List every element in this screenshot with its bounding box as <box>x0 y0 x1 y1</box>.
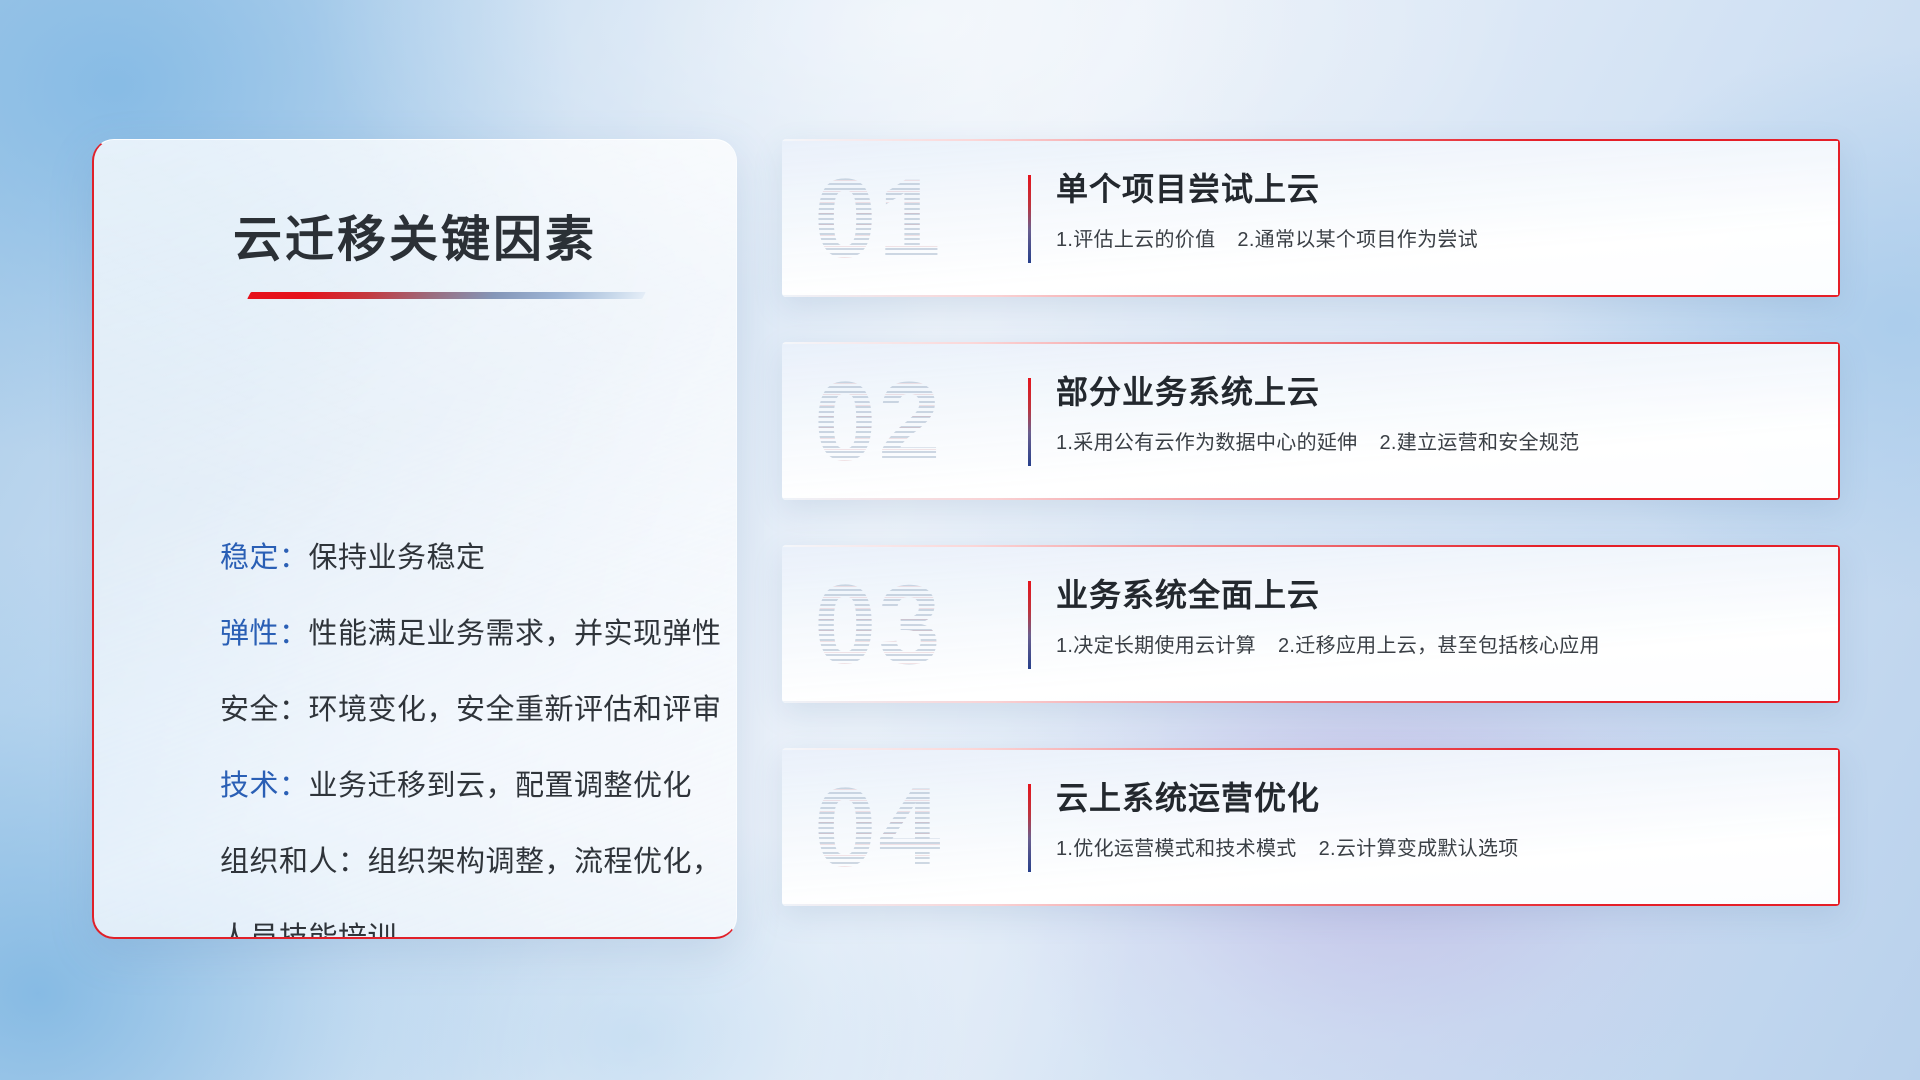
card-right-accent <box>1838 748 1840 906</box>
key-factor-row: 组织和人：组织架构调整，流程优化， <box>220 824 688 900</box>
step-title: 云上系统运营优化 <box>1056 774 1808 822</box>
card-top-accent <box>782 139 1840 141</box>
step-accent-bar <box>1028 581 1031 669</box>
card-top-accent <box>782 748 1840 750</box>
step-description-part: 1.决定长期使用云计算 <box>1056 635 1256 657</box>
step-description-part: 1.采用公有云作为数据中心的延伸 <box>1056 432 1357 454</box>
card-right-accent <box>1838 342 1840 500</box>
key-factor-row: 稳定：保持业务稳定 <box>220 520 688 596</box>
step-description: 1.优化运营模式和技术模式2.云计算变成默认选项 <box>1056 834 1808 864</box>
key-factor-label: 稳定： <box>220 542 309 574</box>
page-title: 云迁移关键因素 <box>94 200 736 271</box>
key-factor-text: 保持业务稳定 <box>309 542 486 574</box>
card-bottom-accent <box>782 701 1840 703</box>
title-underline-gradient <box>247 292 646 299</box>
card-bottom-accent <box>782 295 1840 297</box>
card-right-accent <box>1838 545 1840 703</box>
key-factor-text: 人员技能培训 <box>220 922 397 939</box>
step-description-part: 1.优化运营模式和技术模式 <box>1056 838 1297 860</box>
key-factor-text: 性能满足业务需求，并实现弹性 <box>309 618 722 650</box>
key-factor-row: 技术：业务迁移到云，配置调整优化 <box>220 748 688 824</box>
step-description-part: 1.评估上云的价值 <box>1056 229 1215 251</box>
step-text-block: 单个项目尝试上云1.评估上云的价值2.通常以某个项目作为尝试 <box>1056 165 1808 255</box>
step-accent-bar <box>1028 175 1031 263</box>
step-number-watermark-overlay: 01 <box>814 153 1004 285</box>
step-accent-bar <box>1028 378 1031 466</box>
card-right-accent <box>1838 139 1840 297</box>
card-top-accent <box>782 545 1840 547</box>
step-title: 业务系统全面上云 <box>1056 571 1808 619</box>
step-description: 1.决定长期使用云计算2.迁移应用上云，甚至包括核心应用 <box>1056 631 1808 661</box>
step-description-part: 2.建立运营和安全规范 <box>1379 432 1579 454</box>
key-factor-text: 环境变化，安全重新评估和评审 <box>309 694 722 726</box>
key-factor-row: 安全：环境变化，安全重新评估和评审 <box>220 672 688 748</box>
key-factor-row: 人员技能培训 <box>220 900 688 939</box>
step-text-block: 部分业务系统上云1.采用公有云作为数据中心的延伸2.建立运营和安全规范 <box>1056 368 1808 458</box>
key-factor-text: 业务迁移到云，配置调整优化 <box>309 770 693 802</box>
step-description-part: 2.云计算变成默认选项 <box>1319 838 1519 860</box>
step-description-part: 2.迁移应用上云，甚至包括核心应用 <box>1278 635 1600 657</box>
key-factors-list: 稳定：保持业务稳定弹性：性能满足业务需求，并实现弹性安全：环境变化，安全重新评估… <box>220 520 688 939</box>
step-text-block: 云上系统运营优化1.优化运营模式和技术模式2.云计算变成默认选项 <box>1056 774 1808 864</box>
step-card-01[interactable]: 0101单个项目尝试上云1.评估上云的价值2.通常以某个项目作为尝试 <box>782 139 1840 297</box>
step-card-04[interactable]: 0404云上系统运营优化1.优化运营模式和技术模式2.云计算变成默认选项 <box>782 748 1840 906</box>
card-bottom-accent <box>782 904 1840 906</box>
key-factor-text: 组织架构调整，流程优化， <box>368 846 722 878</box>
key-factor-label: 安全： <box>220 694 309 726</box>
card-top-accent <box>782 342 1840 344</box>
step-number-watermark-overlay: 03 <box>814 559 1004 691</box>
step-description: 1.采用公有云作为数据中心的延伸2.建立运营和安全规范 <box>1056 428 1808 458</box>
step-accent-bar <box>1028 784 1031 872</box>
step-title: 部分业务系统上云 <box>1056 368 1808 416</box>
key-factor-label: 弹性： <box>220 618 309 650</box>
step-card-03[interactable]: 0303业务系统全面上云1.决定长期使用云计算2.迁移应用上云，甚至包括核心应用 <box>782 545 1840 703</box>
step-description-part: 2.通常以某个项目作为尝试 <box>1237 229 1478 251</box>
cloud-migration-steps: 0101单个项目尝试上云1.评估上云的价值2.通常以某个项目作为尝试0202部分… <box>782 139 1840 951</box>
key-factor-row: 弹性：性能满足业务需求，并实现弹性 <box>220 596 688 672</box>
card-bottom-accent <box>782 498 1840 500</box>
step-title: 单个项目尝试上云 <box>1056 165 1808 213</box>
step-text-block: 业务系统全面上云1.决定长期使用云计算2.迁移应用上云，甚至包括核心应用 <box>1056 571 1808 661</box>
key-factors-panel: 云迁移关键因素 稳定：保持业务稳定弹性：性能满足业务需求，并实现弹性安全：环境变… <box>92 139 737 939</box>
step-number-watermark-overlay: 04 <box>814 762 1004 894</box>
step-number-watermark-overlay: 02 <box>814 356 1004 488</box>
step-description: 1.评估上云的价值2.通常以某个项目作为尝试 <box>1056 225 1808 255</box>
key-factor-label: 技术： <box>220 770 309 802</box>
step-card-02[interactable]: 0202部分业务系统上云1.采用公有云作为数据中心的延伸2.建立运营和安全规范 <box>782 342 1840 500</box>
key-factor-label: 组织和人： <box>220 846 368 878</box>
